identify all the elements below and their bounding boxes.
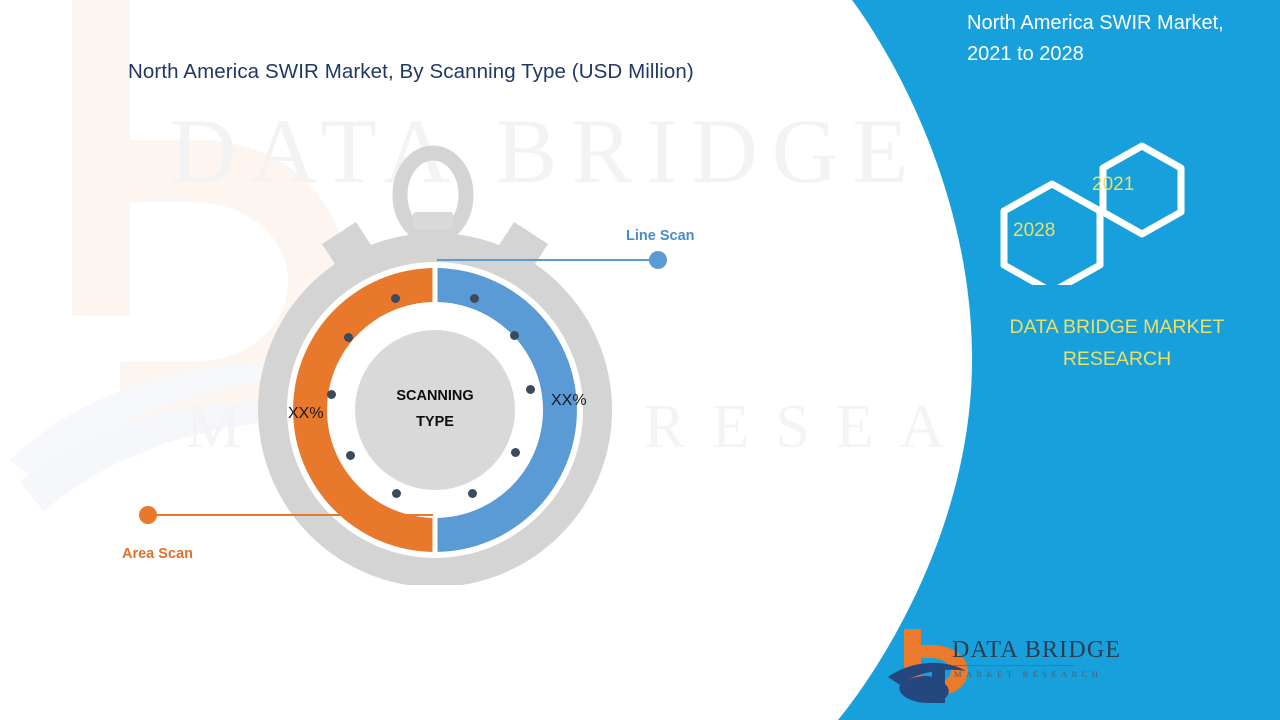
callout-dot-area-scan (139, 506, 157, 524)
blue-panel-content: North America SWIR Market, 2021 to 2028 … (955, 0, 1280, 720)
logo-subtitle: MARKET RESEARCH (954, 669, 1102, 679)
tick-dot (470, 294, 479, 303)
hexagon-outline-icon (990, 140, 1215, 285)
logo-divider (952, 665, 1074, 666)
hexagon-year-2021: 2021 (1092, 174, 1134, 196)
panel-title: North America SWIR Market, 2021 to 2028 (967, 8, 1267, 70)
chart-title: North America SWIR Market, By Scanning T… (128, 60, 694, 84)
callout-label-line-scan: Line Scan (626, 228, 695, 244)
callout-line-line-scan (437, 259, 659, 261)
logo-wordmark: DATA BRIDGE (952, 637, 1121, 664)
company-logo: DATA BRIDGE MARKET RESEARCH (882, 625, 1132, 705)
tick-dot (344, 333, 353, 342)
callout-line-area-scan (148, 514, 433, 516)
tick-dot (511, 448, 520, 457)
callout-dot-line-scan (649, 251, 667, 269)
slide-canvas: DATA BRIDGE MARKET RESEARCH North Americ… (0, 0, 1280, 720)
tick-dot (392, 489, 401, 498)
tick-dot (391, 294, 400, 303)
tick-dot (468, 489, 477, 498)
donut-center-line-2: TYPE (360, 410, 510, 436)
tick-dot (346, 451, 355, 460)
tick-dot (327, 390, 336, 399)
tick-dot (510, 331, 519, 340)
percent-label-line-scan: XX% (551, 392, 587, 410)
percent-label-area-scan: XX% (288, 405, 324, 423)
donut-center-label: SCANNING TYPE (360, 384, 510, 436)
tick-dot (526, 385, 535, 394)
hexagon-year-2028: 2028 (1013, 220, 1055, 242)
callout-label-area-scan: Area Scan (122, 546, 193, 562)
brand-name: DATA BRIDGE MARKET RESEARCH (963, 312, 1271, 375)
hexagon-badges (990, 140, 1215, 285)
donut-center-line-1: SCANNING (360, 384, 510, 410)
